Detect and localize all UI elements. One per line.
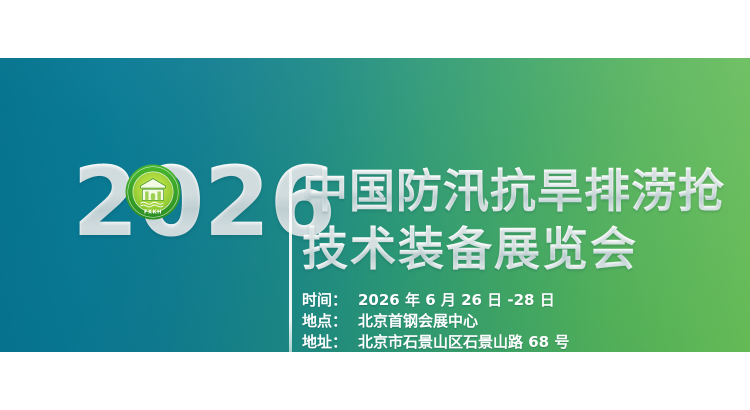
year-text: 2026 [72, 156, 335, 248]
headline-line-1: 中国防汛抗旱排涝抢 [302, 162, 750, 220]
info-value-time: 2026 年 6 月 26 日 -28 日 [358, 290, 555, 311]
info-value-venue: 北京首钢会展中心 [358, 311, 478, 332]
info-label-venue: 地点： [302, 311, 358, 332]
info-label-time: 时间： [302, 290, 358, 311]
headline-info-group: 中国防汛抗旱排涝抢 技术装备展览会 时间： 2026 年 6 月 26 日 -2… [302, 162, 750, 352]
info-label-address: 地址： [302, 332, 358, 352]
info-row-address: 地址： 北京市石景山区石景山路 68 号 [302, 332, 750, 352]
svg-text:FXKH: FXKH [144, 209, 162, 215]
exhibition-banner: 2026 [0, 58, 750, 352]
vertical-divider [289, 170, 292, 352]
fxkh-emblem-icon: 中国防汛抗旱排涝抢险技术装备展览会 [125, 164, 181, 220]
page-root: 2026 [0, 0, 750, 410]
event-info-list: 时间： 2026 年 6 月 26 日 -28 日 地点： 北京首钢会展中心 地… [302, 290, 750, 352]
info-row-venue: 地点： 北京首钢会展中心 [302, 311, 750, 332]
year-emblem-group: 2026 [72, 156, 284, 248]
headline-line-2: 技术装备展览会 [302, 220, 750, 278]
info-value-address: 北京市石景山区石景山路 68 号 [358, 332, 569, 352]
info-row-time: 时间： 2026 年 6 月 26 日 -28 日 [302, 290, 750, 311]
